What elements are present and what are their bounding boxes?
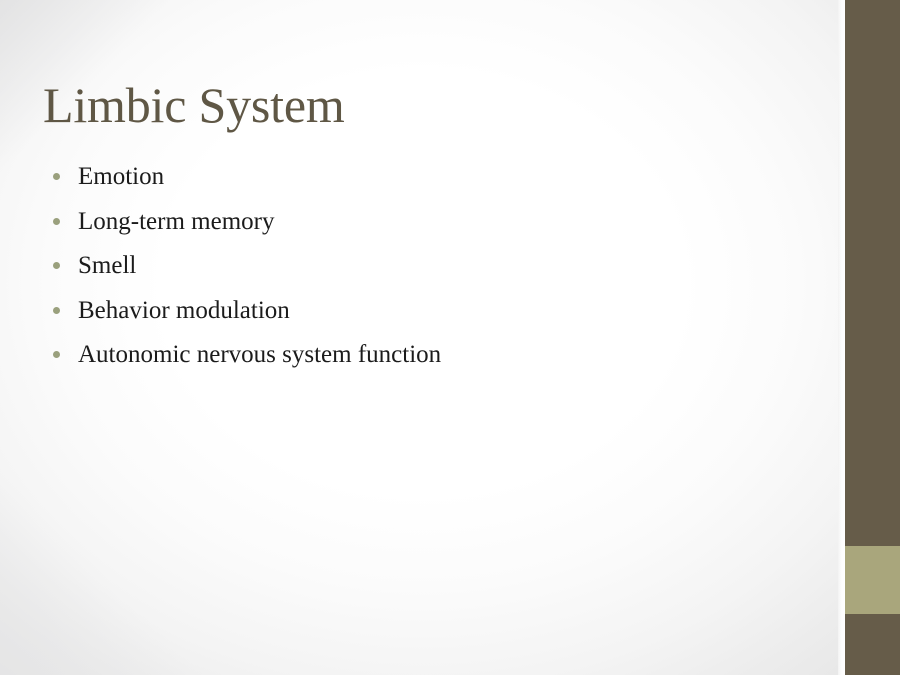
list-item: Smell	[47, 249, 807, 294]
sidebar-segment-bottom-dark-band	[845, 614, 900, 675]
list-item-label: Behavior modulation	[78, 294, 290, 327]
list-item: Behavior modulation	[47, 294, 807, 339]
list-item: Long-term memory	[47, 205, 807, 250]
list-item: Autonomic nervous system function	[47, 338, 807, 383]
bullet-dot-icon	[53, 262, 60, 269]
list-item-label: Long-term memory	[78, 205, 274, 238]
bullet-list: EmotionLong-term memorySmellBehavior mod…	[47, 160, 807, 383]
sidebar-segment-middle-khaki-band	[845, 546, 900, 614]
list-item-label: Emotion	[78, 160, 164, 193]
decorative-sidebar	[845, 0, 900, 675]
bullet-dot-icon	[53, 351, 60, 358]
list-item: Emotion	[47, 160, 807, 205]
bullet-dot-icon	[53, 173, 60, 180]
list-item-label: Smell	[78, 249, 136, 282]
sidebar-segment-top-dark-band	[845, 0, 900, 546]
slide-title: Limbic System	[43, 78, 803, 132]
bullet-dot-icon	[53, 307, 60, 314]
sidebar-gutter	[838, 0, 845, 675]
bullet-dot-icon	[53, 218, 60, 225]
list-item-label: Autonomic nervous system function	[78, 338, 441, 371]
presentation-slide: Limbic System EmotionLong-term memorySme…	[0, 0, 900, 675]
